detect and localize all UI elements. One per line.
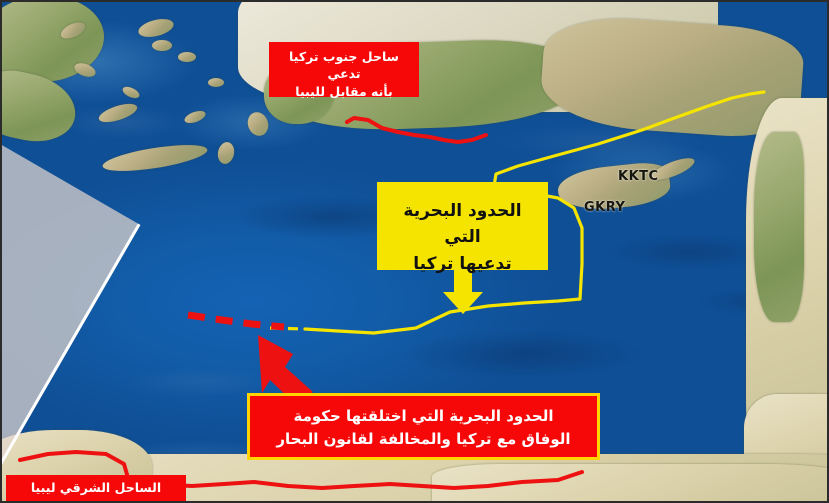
map-label-kktc: KKTC bbox=[618, 169, 659, 184]
callout-libya-east-coast-line1: الساحل الشرقي ليبيا bbox=[12, 479, 180, 496]
turkey-south-coast-highlight bbox=[347, 118, 486, 142]
map-label-gkry: GKRY bbox=[584, 200, 625, 215]
map-canvas: KKTC GKRY ساحل جنوب تركيا تدعي بأنه مقاب… bbox=[0, 0, 829, 503]
callout-turkey-claimed-boundary-line2: تدعيها تركيا bbox=[389, 251, 536, 277]
callout-turkey-south-coast-line2: بأنه مقابل لليبيا bbox=[277, 83, 411, 100]
callout-turkey-claimed-boundary: الحدود البحرية التي تدعيها تركيا bbox=[377, 182, 548, 270]
callout-gna-boundary: الحدود البحرية التي اختلقتها حكومة الوفا… bbox=[247, 393, 600, 460]
callout-turkey-south-coast-line1: ساحل جنوب تركيا تدعي bbox=[277, 48, 411, 83]
gna-fabricated-boundary-dashed-line bbox=[188, 315, 284, 327]
callout-turkey-claimed-boundary-line1: الحدود البحرية التي bbox=[389, 198, 536, 251]
callout-libya-east-coast: الساحل الشرقي ليبيا bbox=[6, 475, 186, 501]
callout-gna-boundary-line1: الحدود البحرية التي اختلقتها حكومة bbox=[260, 405, 587, 428]
callout-turkey-south-coast: ساحل جنوب تركيا تدعي بأنه مقابل لليبيا bbox=[269, 42, 419, 97]
callout-gna-boundary-line2: الوفاق مع تركيا والمخالفة لقانون البحار bbox=[260, 428, 587, 451]
